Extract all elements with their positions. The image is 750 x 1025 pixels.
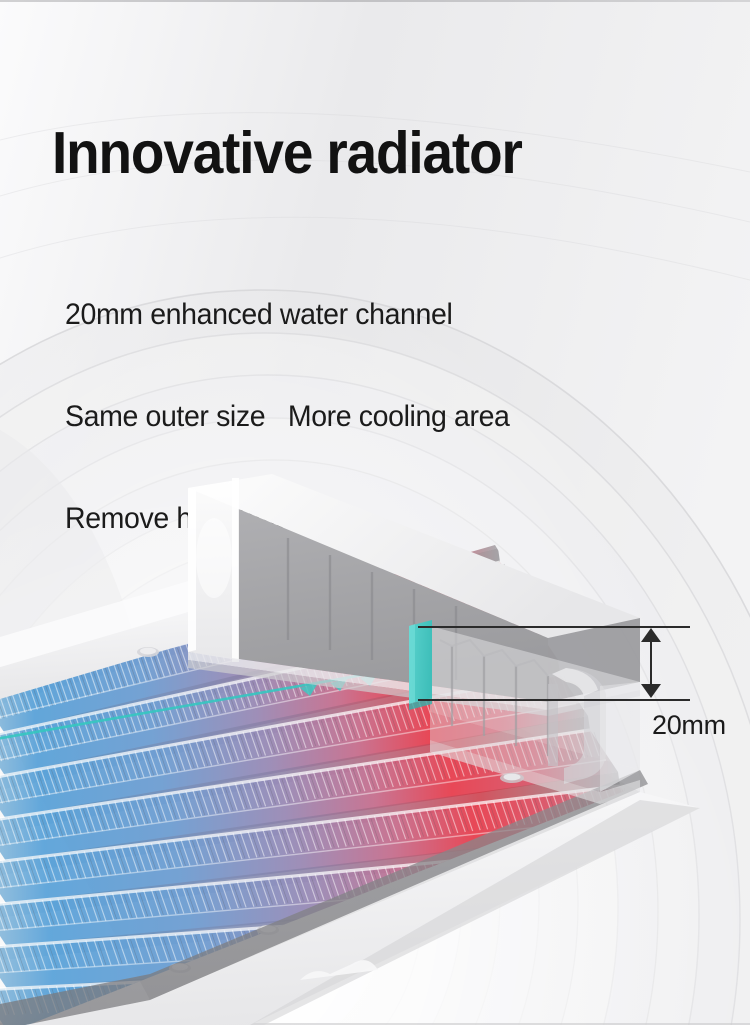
page-title: Innovative radiator — [52, 124, 522, 183]
feature-line-1: 20mm enhanced water channel — [65, 298, 510, 332]
radiator-illustration — [0, 440, 750, 1025]
top-border-rule — [0, 0, 750, 2]
dimension-label: 20mm — [652, 710, 726, 741]
water-channel-highlight — [409, 620, 432, 710]
product-feature-banner: Innovative radiator 20mm enhanced water … — [0, 0, 750, 1025]
dimension-extension-line-bottom — [418, 699, 690, 701]
arrow-down-icon — [641, 684, 661, 698]
feature-line-2: Same outer size More cooling area — [65, 400, 510, 434]
arrow-up-icon — [641, 628, 661, 642]
